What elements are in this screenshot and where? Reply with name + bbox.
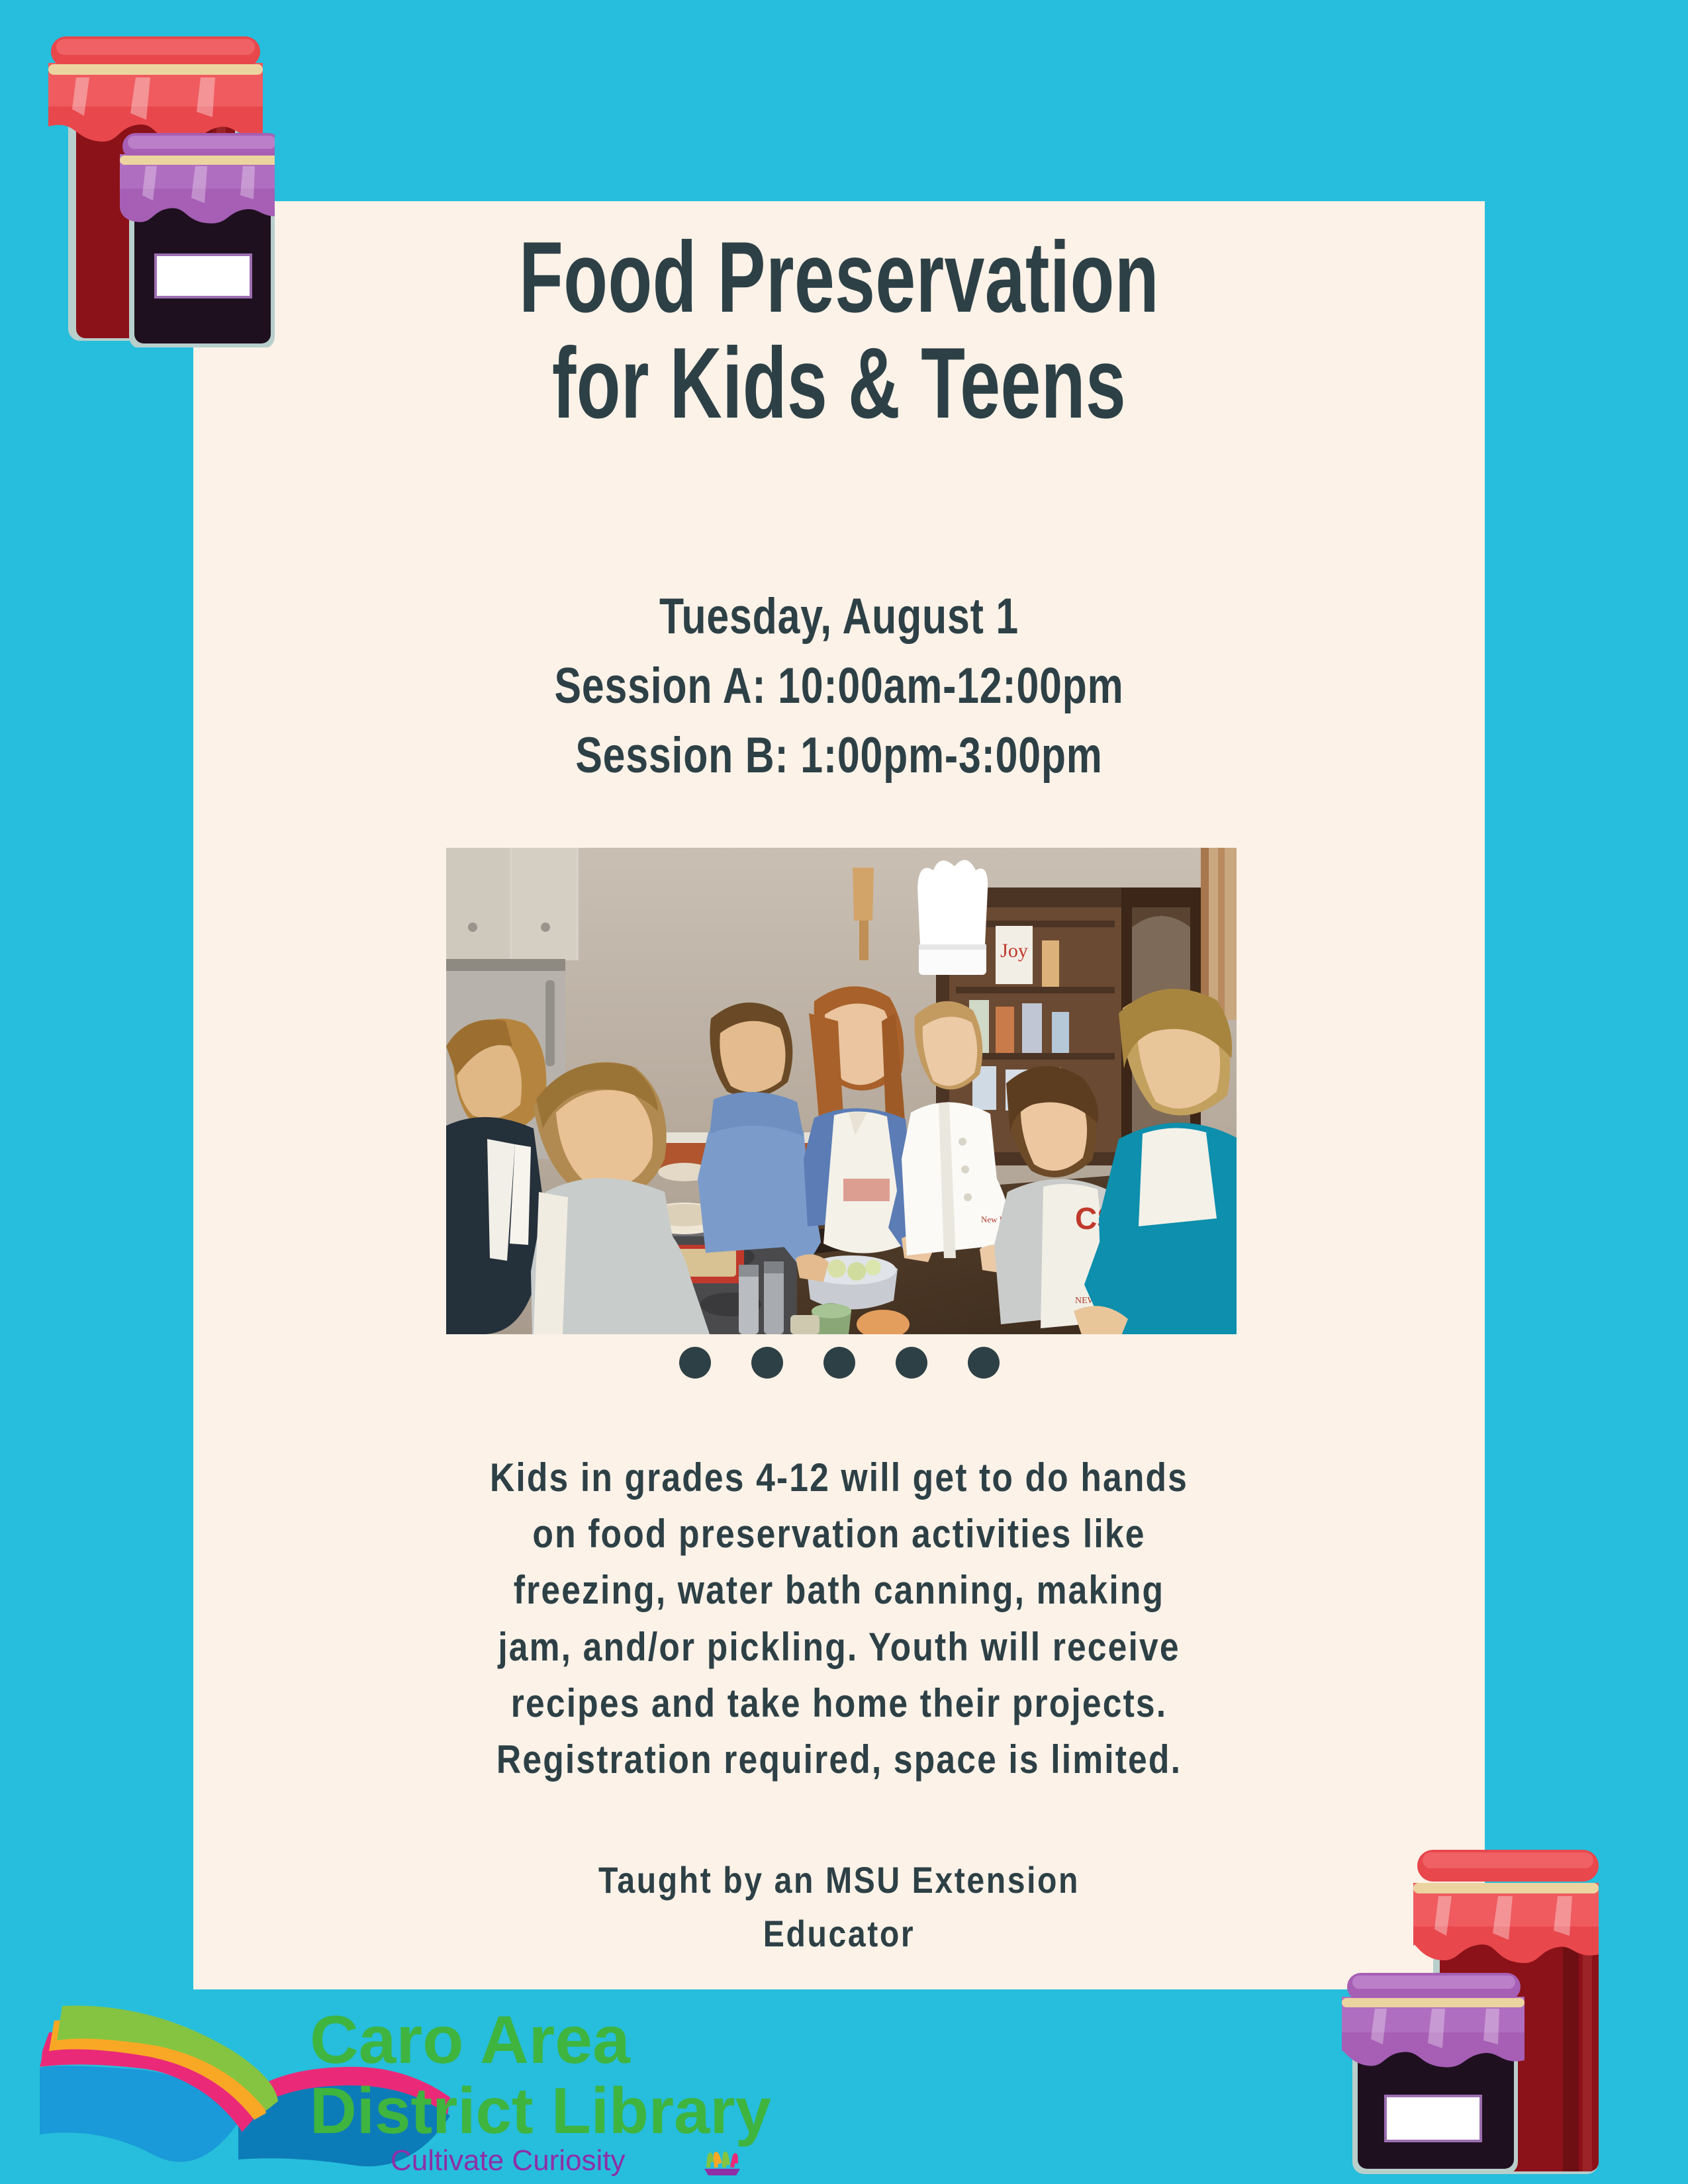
divider-dot — [751, 1347, 783, 1379]
page-title: Food Preservation for Kids & Teens — [374, 225, 1304, 436]
description-text: Kids in grades 4-12 will get to do hands… — [284, 1449, 1395, 1788]
poster-canvas: Food Preservation for Kids & Teens Tuesd… — [0, 0, 1688, 2184]
dot-divider — [193, 1347, 1485, 1379]
logo-svg: Caro Area District Library Cultivate Cur… — [40, 2002, 914, 2184]
logo-tagline: Cultivate Curiosity — [391, 2144, 626, 2177]
jam-jars-icon — [1314, 1830, 1599, 2184]
library-logo[interactable]: Caro Area District Library Cultivate Cur… — [40, 2002, 914, 2184]
divider-dot — [896, 1347, 927, 1379]
divider-dot — [679, 1347, 711, 1379]
schedule-text: Tuesday, August 1 Session A: 10:00am-12:… — [322, 582, 1356, 791]
logo-line2: District Library — [310, 2074, 771, 2147]
event-photo: Joy — [446, 848, 1237, 1334]
purple-jam-jar-icon — [1342, 1973, 1524, 2174]
jam-jars-decoration-top-left — [36, 17, 275, 347]
svg-text:Joy: Joy — [1000, 940, 1028, 962]
kitchen-class-photo: Joy — [446, 848, 1237, 1334]
divider-dot — [823, 1347, 855, 1379]
logo-line1: Caro Area — [310, 2002, 631, 2077]
divider-dot — [968, 1347, 1000, 1379]
purple-jam-jar-icon — [120, 133, 275, 347]
jam-jars-icon — [36, 17, 275, 347]
sprout-icon — [704, 2154, 740, 2175]
jam-jars-decoration-bottom-right — [1314, 1830, 1599, 2184]
instructor-credit: Taught by an MSU Extension Educator — [284, 1853, 1395, 1960]
